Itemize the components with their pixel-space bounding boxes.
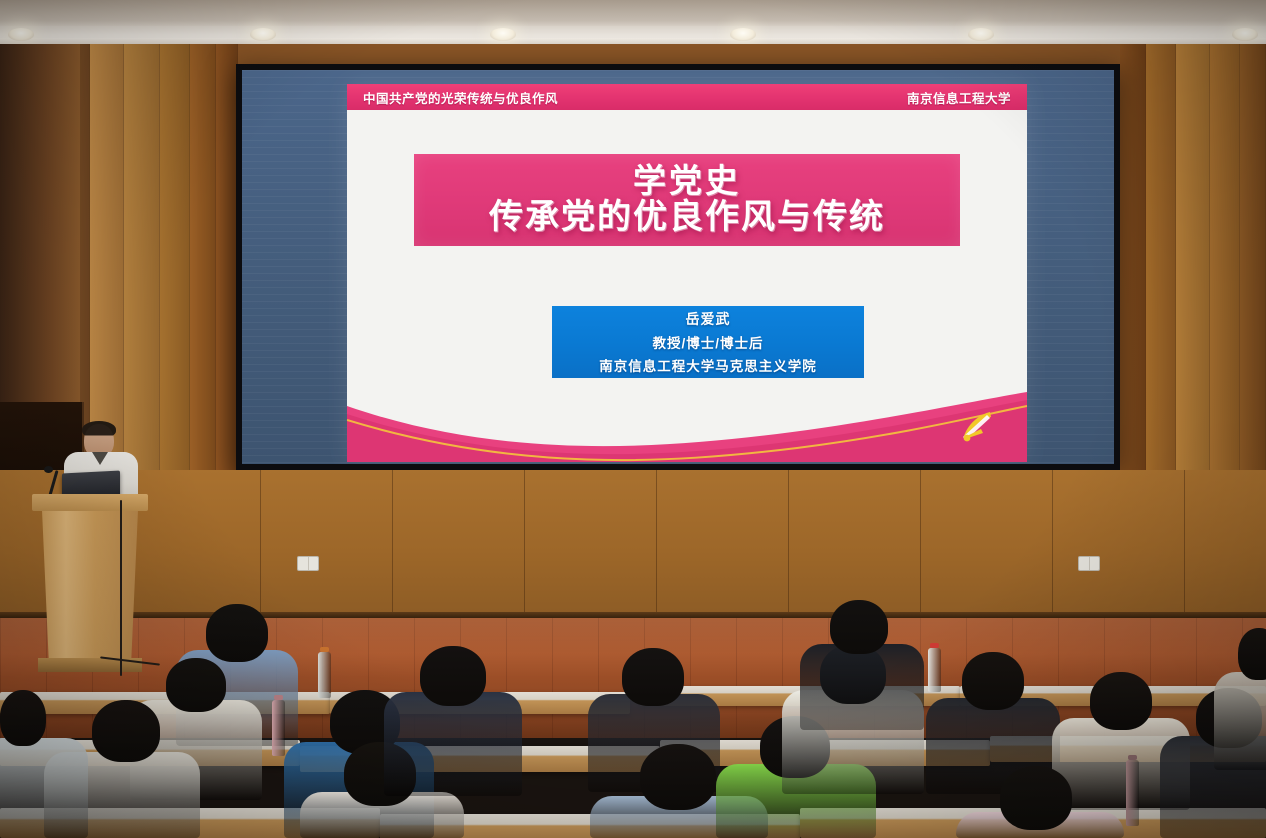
wall-plank-6 [190, 44, 216, 524]
student-torso [1214, 672, 1266, 770]
student-torso [800, 644, 924, 730]
wave-svg [347, 384, 1027, 462]
student-head [622, 648, 684, 706]
slide-decorative-wave [347, 384, 1027, 462]
wall-plank-8 [1120, 44, 1146, 524]
bottle-cap [274, 695, 283, 700]
slide-speaker-block: 岳爱武 教授/博士/博士后 南京信息工程大学马克思主义学院 [552, 306, 864, 378]
microphone-head-icon [44, 466, 53, 473]
lectern-top [32, 494, 148, 511]
slide-header-right-text: 南京信息工程大学 [907, 88, 1011, 107]
lower-wall-seam-3 [392, 470, 393, 618]
slide-header-left-text: 中国共产党的光荣传统与优良作风 [363, 88, 558, 107]
student-head [1090, 672, 1152, 730]
downlight-6 [1232, 28, 1258, 41]
student-torso [384, 692, 522, 796]
ceiling-shadow [0, 0, 1266, 26]
led-screen[interactable]: 中国共产党的光荣传统与优良作风 南京信息工程大学 学党史 传承党的优良作风与传统… [242, 70, 1114, 464]
bottle-cap [320, 647, 329, 652]
student-head [206, 604, 268, 662]
lower-wall-seam-4 [524, 470, 525, 618]
slide-title-line-1: 学党史 [633, 164, 741, 199]
emblem-svg [957, 406, 997, 446]
wall-outlet-right[interactable] [1078, 556, 1100, 571]
ceiling [0, 0, 1266, 46]
student-head [640, 744, 716, 810]
bottle-body [272, 700, 285, 756]
downlight-1 [8, 28, 34, 41]
lecture-hall-scene: 中国共产党的光荣传统与优良作风 南京信息工程大学 学党史 传承党的优良作风与传统… [0, 0, 1266, 838]
bottle-body [1126, 760, 1139, 826]
lower-wall-seam-2 [260, 470, 261, 618]
student-head [962, 652, 1024, 710]
speaker-name: 岳爱武 [686, 309, 731, 329]
downlight-4 [730, 28, 756, 41]
wall-plank-5 [160, 44, 190, 524]
lower-wall-seam-6 [788, 470, 789, 618]
slide-header-band: 中国共产党的光荣传统与优良作风 南京信息工程大学 [347, 84, 1027, 110]
student-head [1238, 628, 1266, 680]
presentation-slide: 中国共产党的光荣传统与优良作风 南京信息工程大学 学党史 传承党的优良作风与传统… [347, 84, 1027, 462]
audience-area [0, 600, 1266, 838]
student-torso [0, 738, 88, 838]
downlight-5 [968, 28, 994, 41]
lower-wall-seam-5 [656, 470, 657, 618]
lower-wall-seam-9 [1184, 470, 1185, 618]
bottle-body [928, 648, 941, 692]
wall-plank-7 [216, 44, 238, 524]
hammer-and-sickle-icon [957, 406, 997, 446]
wall-plank-9 [1146, 44, 1176, 524]
downlight-3 [490, 28, 516, 41]
bottle-cap [1128, 755, 1137, 760]
wall-plank-10 [1176, 44, 1210, 524]
wall-plank-11 [1210, 44, 1240, 524]
student-head [420, 646, 486, 706]
student-head [92, 700, 160, 762]
student-head [0, 690, 46, 746]
lower-wall-paneling [0, 470, 1266, 618]
bottle-body [318, 652, 331, 698]
slide-title-block: 学党史 传承党的优良作风与传统 [414, 154, 960, 246]
wall-plank-4 [124, 44, 160, 524]
student-head [1000, 766, 1072, 830]
lower-wall-seam-7 [920, 470, 921, 618]
lower-wall-seam-8 [1052, 470, 1053, 618]
wall-plank-12 [1240, 44, 1266, 524]
speaker-affiliation: 南京信息工程大学马克思主义学院 [599, 355, 817, 375]
student-head [830, 600, 888, 654]
wall-outlet-left[interactable] [297, 556, 319, 571]
student-head [166, 658, 226, 712]
slide-title-line-2: 传承党的优良作风与传统 [489, 199, 885, 236]
downlight-2 [250, 28, 276, 41]
speaker-credentials: 教授/博士/博士后 [652, 332, 763, 352]
led-screen-frame: 中国共产党的光荣传统与优良作风 南京信息工程大学 学党史 传承党的优良作风与传统… [236, 64, 1120, 470]
bottle-cap [930, 643, 939, 648]
